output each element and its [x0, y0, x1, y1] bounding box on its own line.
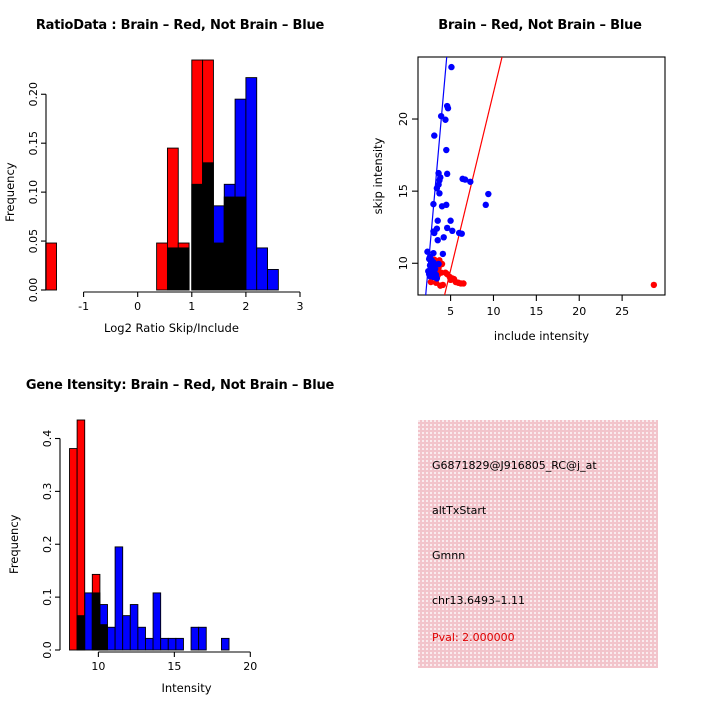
x-axis-tick-label: 5	[447, 305, 454, 318]
x-axis-tick-label: 10	[91, 660, 105, 673]
histogram-bar	[100, 605, 108, 650]
y-axis-tick-label: 0.4	[41, 430, 54, 448]
scatter-series-not-brain	[424, 64, 491, 282]
histogram-bar	[168, 638, 176, 650]
scatter-point	[651, 282, 657, 288]
x-axis-tick-label: 20	[243, 660, 257, 673]
y-axis-tick-label: 0.20	[27, 82, 40, 107]
scatter-point	[440, 251, 446, 257]
scatter-point	[435, 237, 441, 243]
histogram-bar	[157, 243, 168, 290]
gene-intensity-histogram-plot: 0.00.10.20.30.4101520IntensityFrequency	[0, 360, 360, 720]
histogram-bar	[77, 616, 85, 650]
histogram-bar	[161, 638, 169, 650]
scatter-point	[460, 280, 466, 286]
histogram-bar	[192, 184, 203, 290]
hist-series-not-brain	[77, 547, 229, 650]
hist-series-not-brain	[167, 78, 278, 290]
histogram-bar	[176, 638, 184, 650]
scatter-point	[448, 64, 454, 70]
gene-symbol-label: Gmnn	[432, 549, 465, 562]
histogram-bar	[246, 78, 257, 290]
x-axis-tick-label: 15	[529, 305, 543, 318]
y-axis-tick-label: 10	[397, 256, 410, 270]
histogram-bar	[221, 638, 229, 650]
x-axis-tick-label: 0	[134, 300, 141, 313]
y-axis-tick-label: 20	[397, 112, 410, 126]
histogram-bar	[70, 449, 78, 650]
scatter-point	[443, 147, 449, 153]
scatter-point	[436, 190, 442, 196]
y-axis-title: Frequency	[3, 162, 17, 222]
plot-box-frame	[418, 57, 665, 295]
histogram-bar	[46, 243, 57, 290]
event-type-label: altTxStart	[432, 504, 486, 517]
x-axis-tick-label: 1	[188, 300, 195, 313]
x-axis-tick-label: 3	[297, 300, 304, 313]
histogram-bar	[224, 184, 235, 290]
y-axis-tick-label: 0.00	[27, 278, 40, 303]
histogram-bar	[268, 269, 279, 290]
x-axis-title: Intensity	[161, 681, 211, 695]
y-axis-tick-label: 0.10	[27, 180, 40, 205]
x-axis-tick-label: -1	[78, 300, 89, 313]
scatter-point	[441, 234, 447, 240]
y-axis-tick-label: 0.0	[41, 641, 54, 659]
y-axis-tick-label: 15	[397, 184, 410, 198]
scatter-point	[431, 132, 437, 138]
y-axis-tick-label: 0.3	[41, 483, 54, 501]
x-axis-tick-label: 10	[486, 305, 500, 318]
scatter-point	[447, 218, 453, 224]
x-axis-tick-label: 20	[572, 305, 586, 318]
x-axis-tick-label: 15	[167, 660, 181, 673]
intensity-scatter-plot: 510152025101520include intensityskip int…	[360, 0, 720, 360]
y-axis-tick-label: 0.05	[27, 229, 40, 254]
scatter-point	[437, 282, 443, 288]
x-axis-tick-label: 2	[242, 300, 249, 313]
svg-ratio-content: 0.000.050.100.150.20-10123Log2 Ratio Ski…	[3, 60, 304, 335]
histogram-bar	[138, 627, 146, 650]
histogram-bar	[115, 547, 123, 650]
scatter-point	[449, 228, 455, 234]
histogram-bar	[130, 605, 138, 650]
histogram-bar	[235, 99, 246, 290]
scatter-inner	[424, 57, 657, 295]
panel-ratio-histogram: RatioData : Brain – Red, Not Brain – Blu…	[0, 0, 360, 360]
histogram-bar	[199, 627, 207, 650]
histogram-bar	[145, 638, 153, 650]
scatter-point	[435, 218, 441, 224]
histogram-bar	[167, 248, 178, 290]
scatter-point	[483, 202, 489, 208]
y-axis-title: Frequency	[7, 514, 21, 574]
histogram-bar	[178, 248, 189, 290]
scatter-point	[445, 105, 451, 111]
histogram-bar	[85, 593, 93, 650]
x-axis-tick-label: 25	[615, 305, 629, 318]
y-axis-tick-label: 0.2	[41, 536, 54, 554]
figure-canvas: RatioData : Brain – Red, Not Brain – Blu…	[0, 0, 720, 720]
histogram-bar	[203, 163, 214, 290]
scatter-content: 510152025101520include intensityskip int…	[371, 57, 665, 343]
scatter-point	[467, 179, 473, 185]
histogram-bar	[257, 248, 268, 290]
scatter-point	[430, 201, 436, 207]
ratio-histogram-plot: 0.000.050.100.150.20-10123Log2 Ratio Ski…	[0, 0, 360, 360]
y-axis-title: skip intensity	[371, 137, 385, 214]
scatter-series-brain	[428, 256, 657, 288]
scatter-point	[444, 171, 450, 177]
pval-label: Pval: 2.000000	[432, 631, 515, 644]
panel-gene-intensity-histogram: Gene Itensity: Brain – Red, Not Brain – …	[0, 360, 360, 720]
panel-intensity-scatter: Brain – Red, Not Brain – Blue 5101520251…	[360, 0, 720, 360]
histogram-bar	[213, 206, 224, 290]
x-axis-title: Log2 Ratio Skip/Include	[104, 321, 239, 335]
probe-id-label: G6871829@J916805_RC@j_at	[432, 459, 597, 472]
locus-label: chr13.6493–1.11	[432, 594, 525, 607]
scatter-point	[442, 117, 448, 123]
y-axis-tick-label: 0.15	[27, 131, 40, 156]
scatter-point	[443, 202, 449, 208]
annotation-info-box: G6871829@J916805_RC@j_at altTxStart Gmnn…	[418, 420, 658, 668]
histogram-bar	[191, 627, 199, 650]
y-axis-tick-label: 0.1	[41, 588, 54, 606]
scatter-point	[434, 275, 440, 281]
histogram-bar	[123, 616, 131, 650]
scatter-point	[459, 230, 465, 236]
scatter-point	[431, 230, 437, 236]
histogram-bar	[108, 627, 116, 650]
svg-gene-content: 0.00.10.20.30.4101520IntensityFrequency	[7, 420, 257, 695]
histogram-bar	[92, 593, 100, 650]
regression-line	[445, 57, 502, 295]
histogram-bar	[153, 593, 161, 650]
panel-annotation-info: G6871829@J916805_RC@j_at altTxStart Gmnn…	[360, 360, 720, 720]
scatter-point	[485, 191, 491, 197]
x-axis-title: include intensity	[494, 329, 589, 343]
